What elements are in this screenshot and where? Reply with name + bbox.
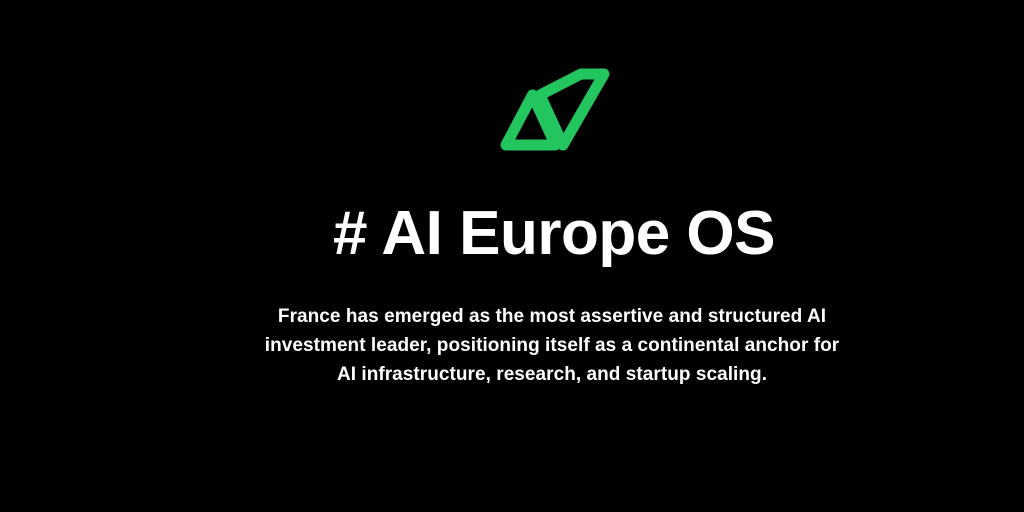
subtitle-block: France has emerged as the most assertive… xyxy=(0,302,1024,389)
subtitle-line-2: investment leader, positioning itself as… xyxy=(265,331,839,360)
subtitle-align-wrapper: France has emerged as the most assertive… xyxy=(265,302,839,389)
subtitle-line-3: AI infrastructure, research, and startup… xyxy=(265,360,839,389)
page-title: # AI Europe OS xyxy=(0,196,1024,272)
nx-monogram-logo-icon xyxy=(492,62,616,162)
page-title-text: # AI Europe OS xyxy=(333,196,775,272)
title-slide: # AI Europe OS France has emerged as the… xyxy=(0,0,1024,512)
subtitle-line-1: France has emerged as the most assertive… xyxy=(265,302,839,331)
brand-logo xyxy=(0,62,1024,162)
logo-align-wrapper xyxy=(492,62,616,162)
